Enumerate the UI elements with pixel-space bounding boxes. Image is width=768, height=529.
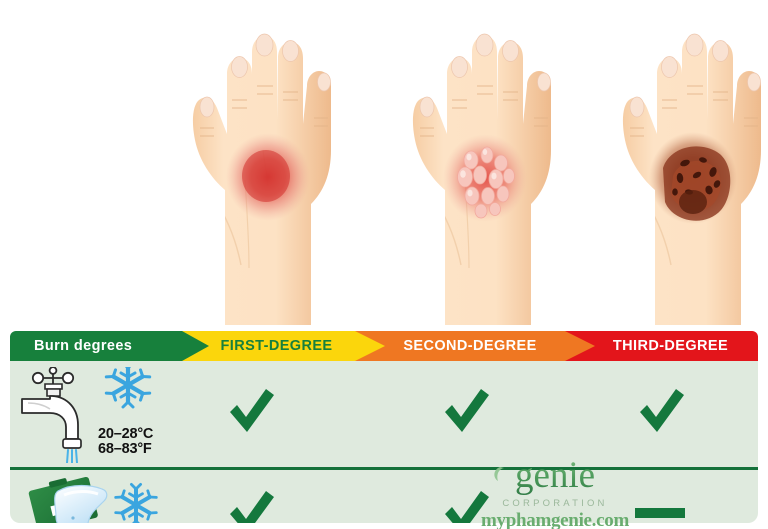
- genie-word: genie: [515, 455, 595, 496]
- row-cool-running-water-icons: 20–28°C 68–83°F: [16, 367, 181, 463]
- chevron-arrow-orange-icon: [565, 331, 595, 361]
- mark-row1-second-degree: [440, 385, 492, 437]
- header-label-second-degree: SECOND-DEGREE: [403, 338, 536, 354]
- row-divider: [10, 467, 758, 470]
- header-label-first-degree: FIRST-DEGREE: [221, 338, 333, 354]
- temperature-fahrenheit: 68–83°F: [98, 442, 152, 457]
- ice-gel-pack-icon: [55, 486, 107, 524]
- faucet-running-water-icon: [22, 367, 81, 448]
- chevron-arrow-green-icon: [182, 331, 209, 361]
- table-header-row: Burn degrees FIRST-DEGREE SECOND-DEGREE …: [10, 331, 758, 361]
- chevron-arrow-yellow-icon: [355, 331, 385, 361]
- header-label-third-degree: THIRD-DEGREE: [613, 338, 728, 354]
- burn-first-aid-table: Burn degrees FIRST-DEGREE SECOND-DEGREE …: [10, 331, 758, 523]
- hand-third-degree: [585, 0, 768, 325]
- genie-wordmark-icon: genie: [470, 455, 640, 499]
- mark-row2-first-degree: [225, 487, 277, 523]
- mark-row1-first-degree: [225, 385, 277, 437]
- logo-website: myphamgenie.com: [470, 510, 640, 529]
- logo-subtitle: CORPORATION: [470, 498, 640, 509]
- header-label-burn-degrees: Burn degrees: [34, 338, 132, 354]
- snowflake-icon: [106, 367, 149, 407]
- snowflake-icon: [116, 484, 157, 523]
- header-cell-burn-degrees: Burn degrees: [10, 331, 182, 361]
- brand-logo: genie CORPORATION myphamgenie.com: [470, 455, 640, 529]
- table-body: 20–28°C 68–83°F: [10, 361, 758, 523]
- header-cell-second-degree: SECOND-DEGREE: [355, 331, 565, 361]
- hand-first-degree: [155, 0, 365, 325]
- mark-row2-third-degree: [635, 507, 685, 519]
- burn-degrees-infographic: Burn degrees FIRST-DEGREE SECOND-DEGREE …: [0, 0, 768, 529]
- hand-illustrations: [0, 0, 768, 325]
- hand-second-degree: [375, 0, 585, 325]
- mark-row1-third-degree: [635, 385, 687, 437]
- row-cold-pack-icons: [16, 473, 181, 523]
- water-stream-icon: [67, 450, 77, 463]
